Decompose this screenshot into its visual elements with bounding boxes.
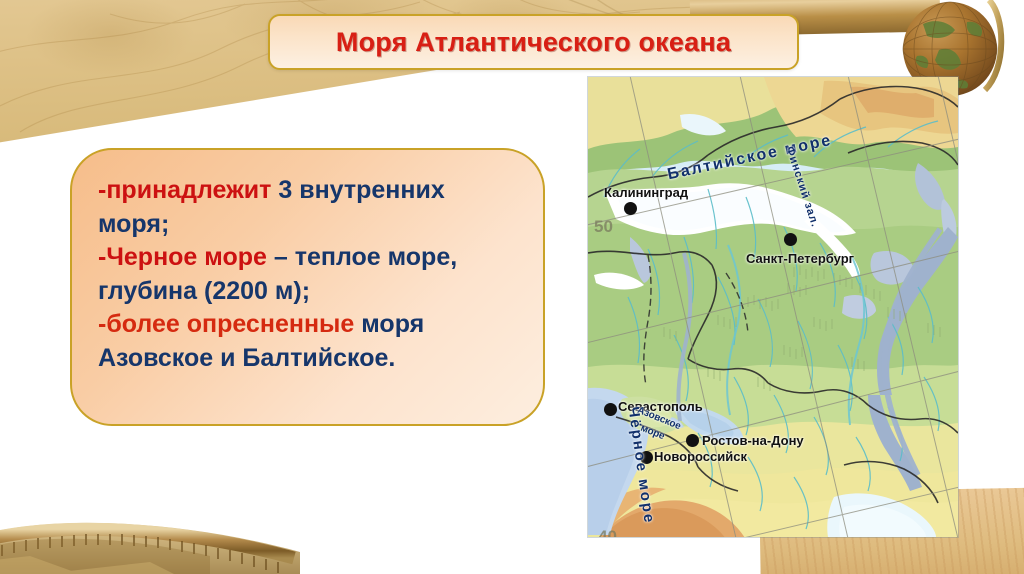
map-graticule-label-50: 50 [594, 217, 613, 237]
parchment-texture-bottom [660, 532, 1024, 574]
map-graticule-label-40: 40 [598, 527, 617, 537]
map-label-saint-petersburg: Санкт-Петербург [746, 251, 854, 266]
bullet-3-highlight: -Черное море [98, 243, 267, 271]
bullet-line-3: -Черное море – теплое море, [98, 241, 517, 275]
map-label-rostov-on-don: Ростов-на-Дону [702, 433, 804, 448]
bullet-line-1: -принадлежит 3 внутренних [98, 174, 517, 208]
slide-canvas: Моря Атлантического океана -принадлежит … [0, 0, 1024, 574]
city-dot-rostov-on-don [686, 434, 699, 447]
bullet-line-6: Азовское и Балтийское. [98, 342, 517, 376]
bullet-3-rest: – теплое море, [267, 243, 457, 271]
bullet-5-rest: моря [354, 310, 424, 338]
bullet-5-highlight: -более опресненные [98, 310, 354, 338]
bullet-1-highlight: -принадлежит [98, 176, 271, 204]
map-label-kaliningrad: Калининград [604, 185, 688, 200]
city-dot-sevastopol [604, 403, 617, 416]
bullet-1-rest: 3 внутренних [271, 176, 444, 204]
slide-title-plaque: Моря Атлантического океана [268, 14, 799, 70]
content-callout-box: -принадлежит 3 внутренних моря; -Черное … [70, 148, 545, 426]
map-label-novorossiysk: Новороссийск [654, 449, 747, 464]
bullet-4-rest: глубина (2200 м); [98, 277, 310, 305]
bullet-line-5: -более опресненные моря [98, 308, 517, 342]
page-title: Моря Атлантического океана [336, 27, 731, 58]
bullet-line-4: глубина (2200 м); [98, 275, 517, 309]
bullet-line-2: моря; [98, 208, 517, 242]
city-dot-saint-petersburg [784, 233, 797, 246]
bullet-2-rest: моря; [98, 210, 169, 238]
compass-icon [0, 512, 300, 574]
city-dot-kaliningrad [624, 202, 637, 215]
bullet-6-rest: Азовское и Балтийское. [98, 344, 395, 372]
physical-map-image: Балтийское море Финский зал. Калининград… [588, 77, 958, 537]
